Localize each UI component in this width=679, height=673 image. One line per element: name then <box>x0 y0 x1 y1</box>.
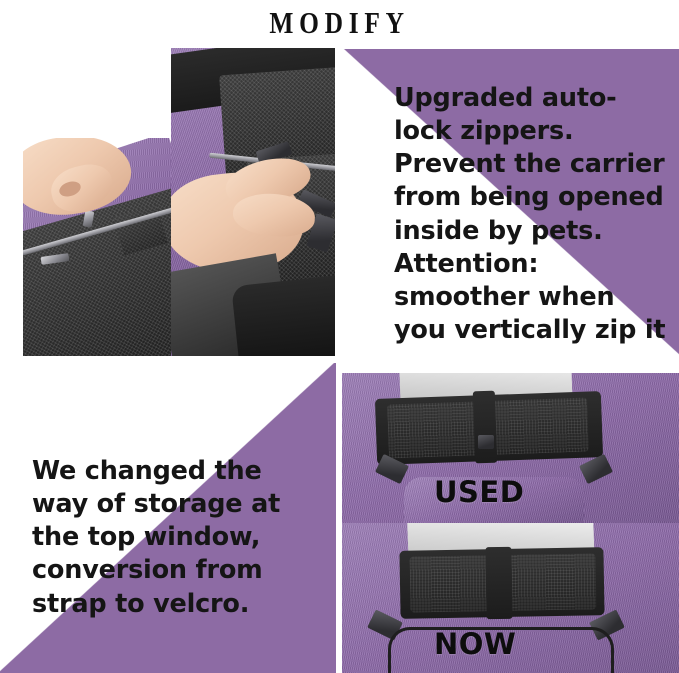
photo-used: USED <box>342 373 679 524</box>
velcro-tab-now <box>485 547 512 619</box>
panel-upgraded-zippers: Upgraded auto-lock zippers. Prevent the … <box>342 49 679 356</box>
top-window-storage-photo: USED NOW <box>342 373 679 673</box>
zipper-closeup-photo <box>23 48 335 356</box>
panel-storage-change: We changed the way of storage at the top… <box>0 363 336 673</box>
zipper-photo-right <box>171 48 335 356</box>
strap-buckle-used <box>478 435 494 449</box>
center-strap-used <box>473 391 497 464</box>
label-used: USED <box>434 475 524 509</box>
page-title: MODIFY <box>0 2 679 44</box>
panel-upgraded-zippers-text: Upgraded auto-lock zippers. Prevent the … <box>394 82 666 356</box>
label-now: NOW <box>434 627 516 661</box>
panel-storage-change-text: We changed the way of storage at the top… <box>32 455 324 621</box>
photo-now: NOW <box>342 523 679 673</box>
carrier-strap-bottom <box>231 274 335 356</box>
zipper-photo-left <box>23 138 173 356</box>
page-title-text: MODIFY <box>269 5 409 41</box>
infographic-page: MODIFY <box>0 0 679 673</box>
